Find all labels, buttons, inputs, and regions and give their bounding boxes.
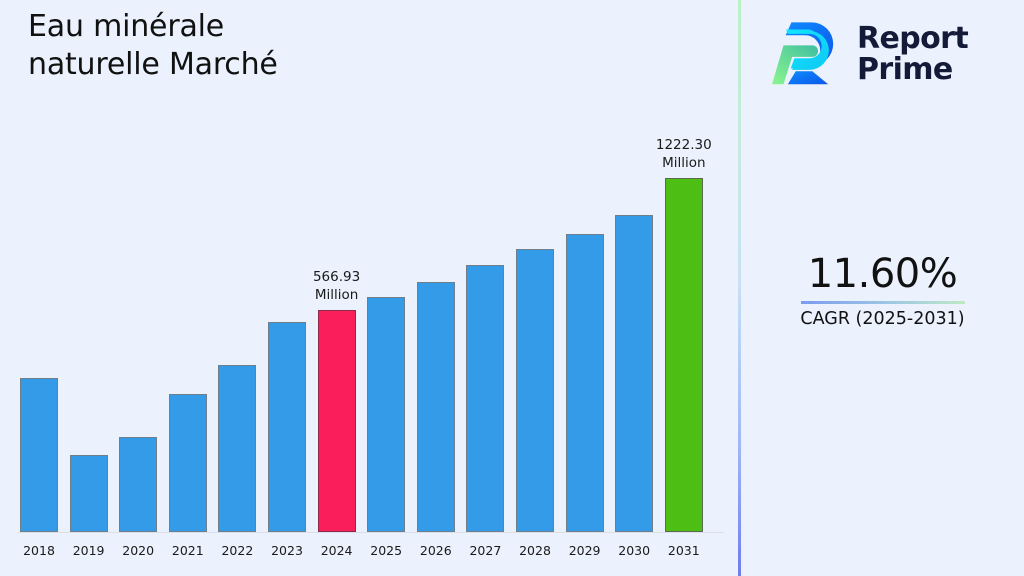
x-tick-label-2020: 2020 bbox=[119, 543, 157, 558]
bar-2023[interactable] bbox=[268, 322, 306, 532]
x-tick-label-2031: 2031 bbox=[665, 543, 703, 558]
bar-data-label-2031: 1222.30 Million bbox=[629, 136, 739, 172]
bar-2018[interactable] bbox=[20, 378, 58, 532]
x-tick-label-2027: 2027 bbox=[466, 543, 504, 558]
bar-2026[interactable] bbox=[417, 282, 455, 532]
x-tick-label-2023: 2023 bbox=[268, 543, 306, 558]
cagr-caption: CAGR (2025-2031) bbox=[741, 309, 1024, 329]
bar-2029[interactable] bbox=[566, 234, 604, 532]
bar-chart-plot: 2018201920202021202220232024202520262027… bbox=[0, 0, 738, 576]
x-tick-label-2028: 2028 bbox=[516, 543, 554, 558]
bar-2022[interactable] bbox=[218, 365, 256, 532]
report-prime-logo: Report Prime bbox=[771, 12, 1011, 96]
bar-2027[interactable] bbox=[466, 265, 504, 532]
bar-2031[interactable] bbox=[665, 178, 703, 532]
bar-2019[interactable] bbox=[70, 455, 108, 532]
x-tick-label-2026: 2026 bbox=[417, 543, 455, 558]
bar-2025[interactable] bbox=[367, 297, 405, 532]
logo-line-report: Report bbox=[857, 23, 968, 55]
cagr-block: 11.60% CAGR (2025-2031) bbox=[741, 252, 1024, 329]
x-tick-label-2018: 2018 bbox=[20, 543, 58, 558]
bar-2020[interactable] bbox=[119, 437, 157, 532]
x-tick-label-2022: 2022 bbox=[218, 543, 256, 558]
bar-2030[interactable] bbox=[615, 215, 653, 532]
cagr-divider-rule bbox=[801, 301, 965, 304]
bar-2024[interactable] bbox=[318, 310, 356, 532]
x-tick-label-2025: 2025 bbox=[367, 543, 405, 558]
bar-data-label-2024: 566.93 Million bbox=[282, 268, 392, 304]
bar-2021[interactable] bbox=[169, 394, 207, 532]
brand-panel: Report Prime 11.60% CAGR (2025-2031) bbox=[741, 0, 1024, 576]
logo-wordmark: Report Prime bbox=[857, 23, 968, 86]
x-tick-label-2019: 2019 bbox=[70, 543, 108, 558]
report-prime-logo-icon bbox=[771, 18, 845, 90]
chart-screenshot: Eau minérale naturelle Marché 2018201920… bbox=[0, 0, 1024, 576]
chart-panel: Eau minérale naturelle Marché 2018201920… bbox=[0, 0, 738, 576]
x-axis-line bbox=[18, 532, 724, 533]
x-tick-label-2030: 2030 bbox=[615, 543, 653, 558]
cagr-value: 11.60% bbox=[741, 252, 1024, 297]
x-tick-label-2029: 2029 bbox=[566, 543, 604, 558]
x-tick-label-2021: 2021 bbox=[169, 543, 207, 558]
bar-2028[interactable] bbox=[516, 249, 554, 532]
logo-line-prime: Prime bbox=[857, 54, 968, 86]
x-tick-label-2024: 2024 bbox=[318, 543, 356, 558]
